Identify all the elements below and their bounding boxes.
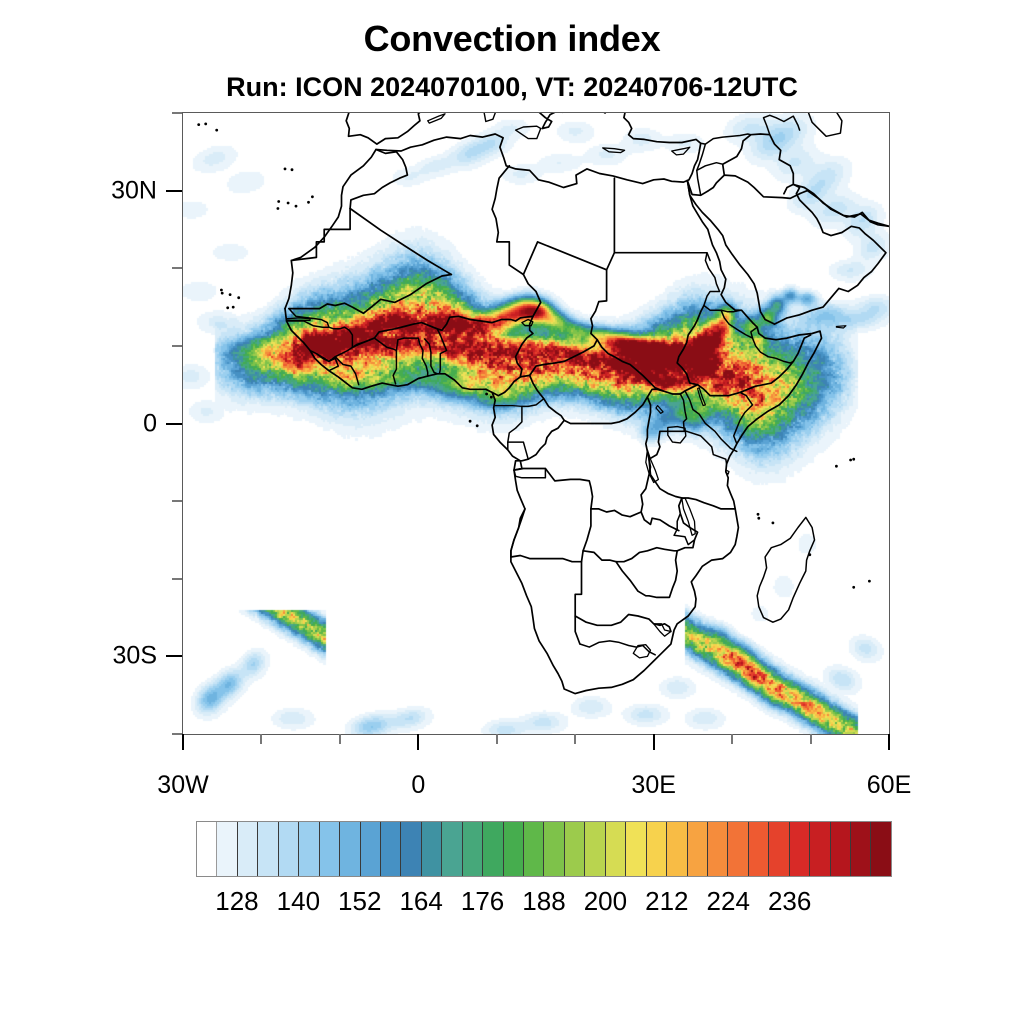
y-axis-label: 30N: [17, 176, 157, 205]
colorbar-cell: [258, 822, 278, 876]
colorbar-tick-label: 152: [338, 886, 381, 917]
colorbar-cell: [565, 822, 585, 876]
y-tick-minor: [172, 500, 182, 502]
x-tick-minor: [339, 734, 341, 744]
colorbar-cell: [504, 822, 524, 876]
colorbar-cell: [647, 822, 667, 876]
colorbar-tick-label: 212: [645, 886, 688, 917]
colorbar-cell: [422, 822, 442, 876]
x-tick-minor: [496, 734, 498, 744]
y-axis-label: 0: [17, 409, 157, 438]
colorbar-cell: [217, 822, 237, 876]
colorbar-cell: [769, 822, 789, 876]
colorbar-cell: [381, 822, 401, 876]
colorbar-cell: [544, 822, 564, 876]
map-plot-area[interactable]: [182, 112, 890, 735]
colorbar[interactable]: [196, 821, 892, 877]
colorbar-cell: [279, 822, 299, 876]
colorbar-cell: [708, 822, 728, 876]
colorbar-cell: [401, 822, 421, 876]
colorbar-cell: [340, 822, 360, 876]
run-info-subtitle: Run: ICON 2024070100, VT: 20240706-12UTC: [0, 72, 1024, 103]
colorbar-cell: [238, 822, 258, 876]
x-axis-label: 0: [411, 771, 425, 800]
colorbar-gradient[interactable]: [196, 821, 892, 877]
country-borders-overlay: [183, 113, 889, 734]
x-axis-label: 30W: [157, 771, 208, 800]
colorbar-cell: [831, 822, 851, 876]
colorbar-cell: [483, 822, 503, 876]
x-tick-minor: [810, 734, 812, 744]
colorbar-cell: [667, 822, 687, 876]
colorbar-cell: [688, 822, 708, 876]
colorbar-cell: [790, 822, 810, 876]
colorbar-cell: [585, 822, 605, 876]
y-tick-minor: [172, 267, 182, 269]
y-tick-minor: [172, 733, 182, 735]
y-tick-minor: [172, 578, 182, 580]
x-axis-label: 30E: [631, 771, 675, 800]
colorbar-cell: [626, 822, 646, 876]
colorbar-cell: [197, 822, 217, 876]
x-tick-major: [182, 734, 184, 750]
colorbar-cell: [606, 822, 626, 876]
colorbar-cell: [871, 822, 890, 876]
colorbar-cell: [851, 822, 871, 876]
colorbar-cell: [810, 822, 830, 876]
colorbar-tick-label: 140: [277, 886, 320, 917]
y-tick-minor: [172, 345, 182, 347]
y-tick-major: [166, 190, 182, 192]
colorbar-tick-label: 200: [584, 886, 627, 917]
colorbar-tick-label: 164: [399, 886, 442, 917]
x-tick-major: [653, 734, 655, 750]
y-tick-major: [166, 423, 182, 425]
x-tick-major: [417, 734, 419, 750]
colorbar-tick-label: 236: [768, 886, 811, 917]
page-title: Convection index: [0, 18, 1024, 60]
colorbar-cell: [442, 822, 462, 876]
colorbar-cell: [463, 822, 483, 876]
colorbar-tick-label: 224: [707, 886, 750, 917]
x-tick-minor: [260, 734, 262, 744]
colorbar-tick-label: 188: [522, 886, 565, 917]
colorbar-cell: [749, 822, 769, 876]
x-tick-major: [888, 734, 890, 750]
colorbar-cell: [320, 822, 340, 876]
colorbar-tick-label: 128: [215, 886, 258, 917]
colorbar-cell: [728, 822, 748, 876]
y-tick-minor: [172, 112, 182, 114]
y-axis-label: 30S: [17, 642, 157, 671]
colorbar-cell: [524, 822, 544, 876]
colorbar-cell: [361, 822, 381, 876]
colorbar-cell: [299, 822, 319, 876]
y-tick-major: [166, 655, 182, 657]
x-axis-label: 60E: [867, 771, 911, 800]
x-tick-minor: [574, 734, 576, 744]
x-tick-minor: [731, 734, 733, 744]
colorbar-tick-label: 176: [461, 886, 504, 917]
